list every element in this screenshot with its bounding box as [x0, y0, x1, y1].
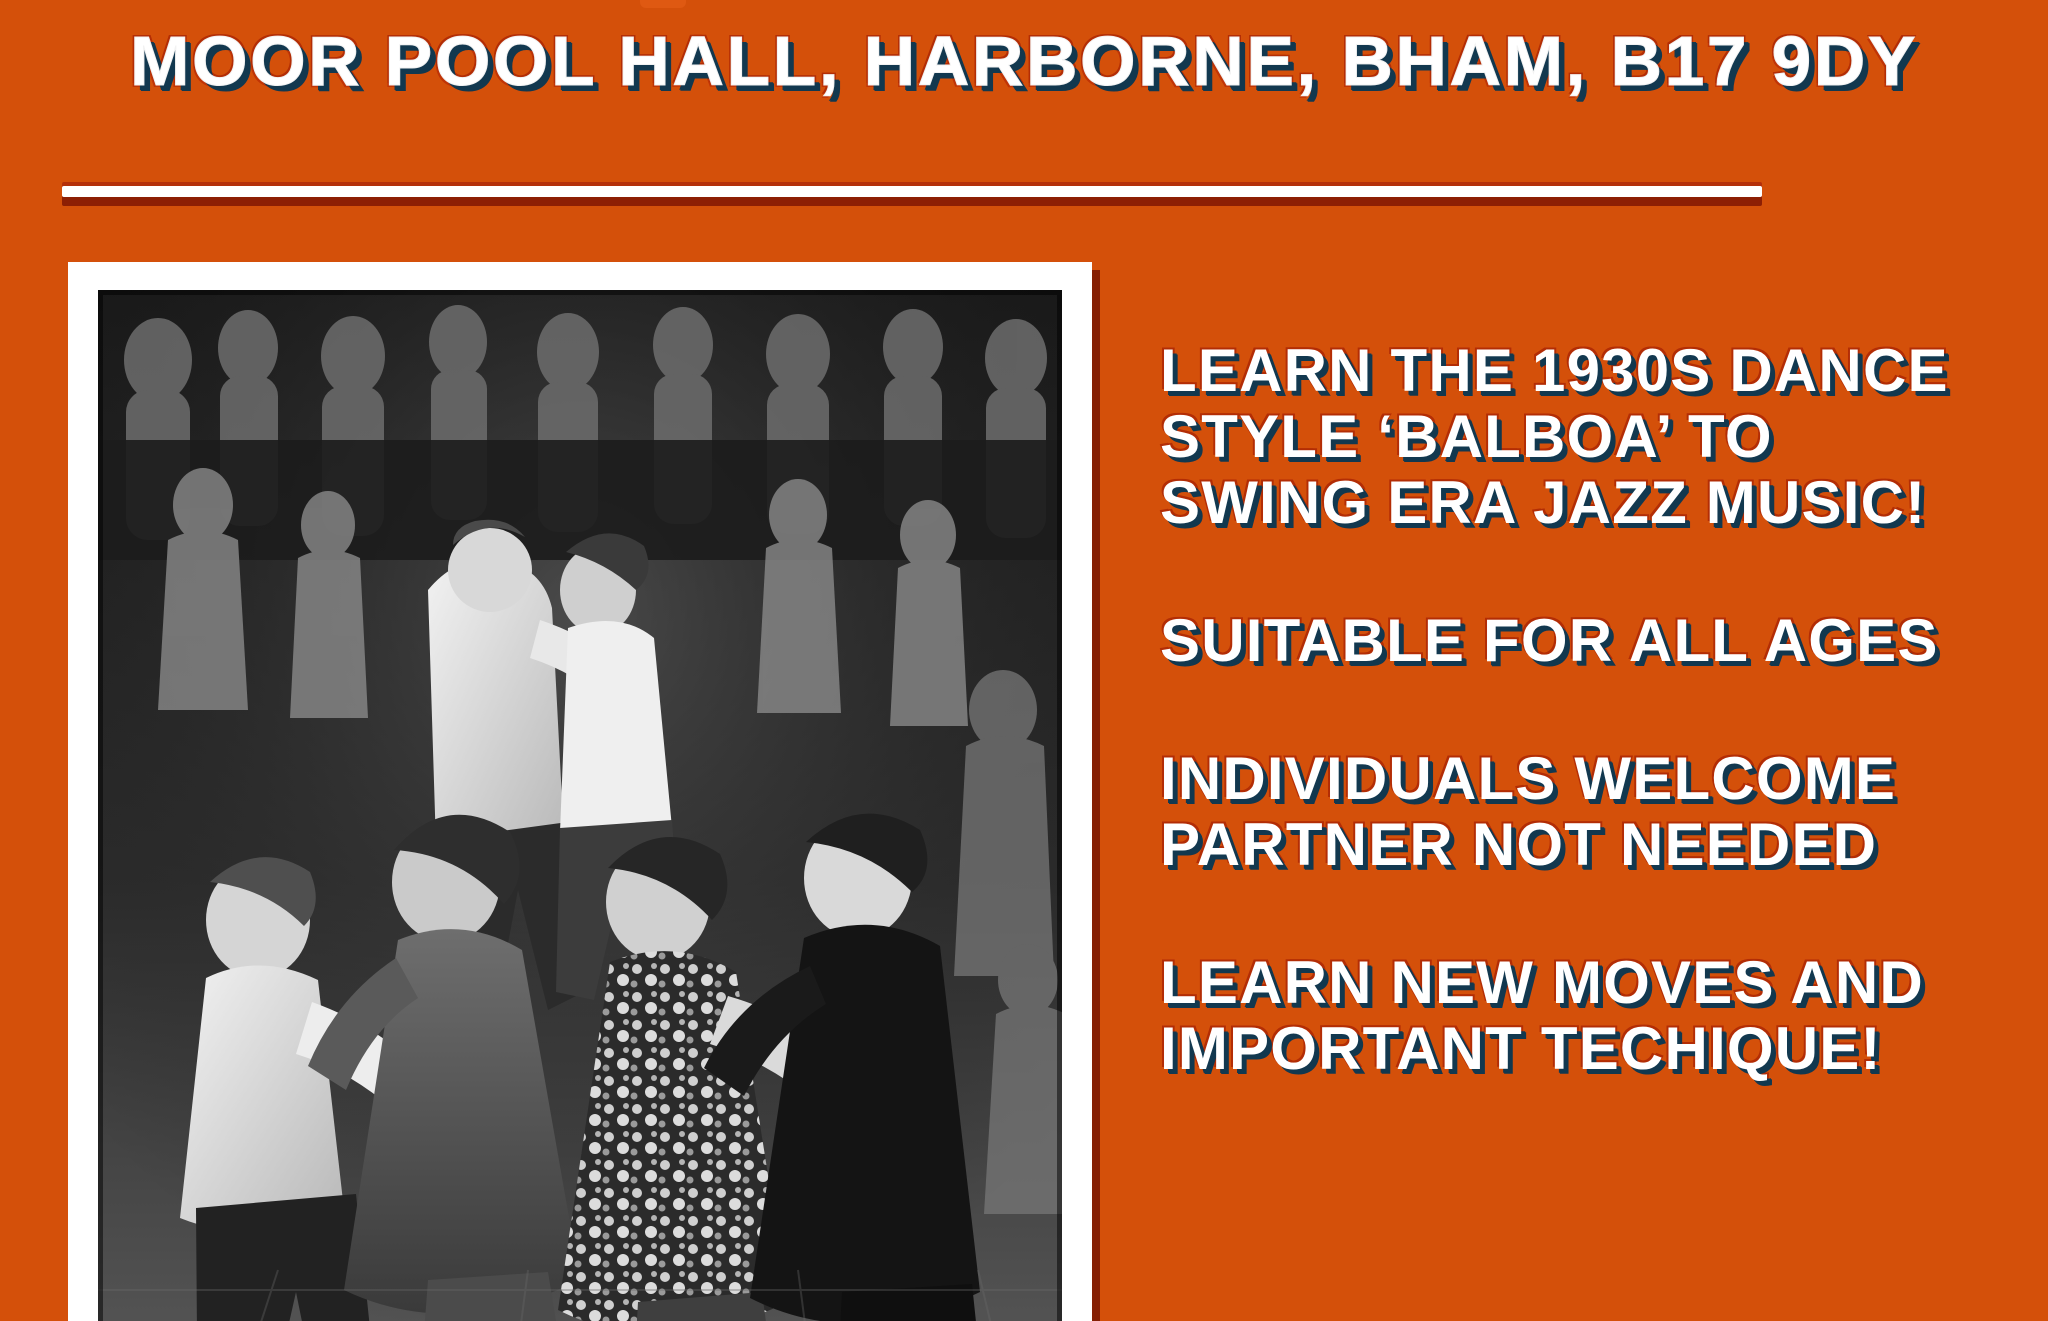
copy-line: INDIVIDUALS WELCOME [1160, 746, 2040, 812]
copy-block-learn-balboa: LEARN THE 1930S DANCE STYLE ‘BALBOA’ TO … [1160, 338, 2040, 536]
copy-line: PARTNER NOT NEEDED [1160, 812, 2040, 878]
copy-line: SUITABLE FOR ALL AGES [1160, 608, 2040, 674]
copy-line: STYLE ‘BALBOA’ TO [1160, 404, 2040, 470]
copy-line: LEARN THE 1930S DANCE [1160, 338, 2040, 404]
benefits-copy: LEARN THE 1930S DANCE STYLE ‘BALBOA’ TO … [1160, 338, 2040, 1082]
copy-line: SWING ERA JAZZ MUSIC! [1160, 470, 2040, 536]
swing-dance-poster: MOOR POOL HALL, HARBORNE, BHAM, B17 9DY [0, 0, 2048, 1321]
copy-block-individuals-welcome: INDIVIDUALS WELCOME PARTNER NOT NEEDED [1160, 746, 2040, 878]
cropped-text-fragment-icon [640, 0, 686, 8]
copy-block-all-ages: SUITABLE FOR ALL AGES [1160, 608, 2040, 674]
venue-headline: MOOR POOL HALL, HARBORNE, BHAM, B17 9DY [0, 26, 2048, 96]
copy-block-new-moves: LEARN NEW MOVES AND IMPORTANT TECHIQUE! [1160, 950, 2040, 1082]
photo-frame [68, 262, 1092, 1321]
copy-line: IMPORTANT TECHIQUE! [1160, 1016, 2040, 1082]
dance-floor-photo [98, 290, 1062, 1321]
divider-rule [62, 186, 1762, 197]
copy-line: LEARN NEW MOVES AND [1160, 950, 2040, 1016]
